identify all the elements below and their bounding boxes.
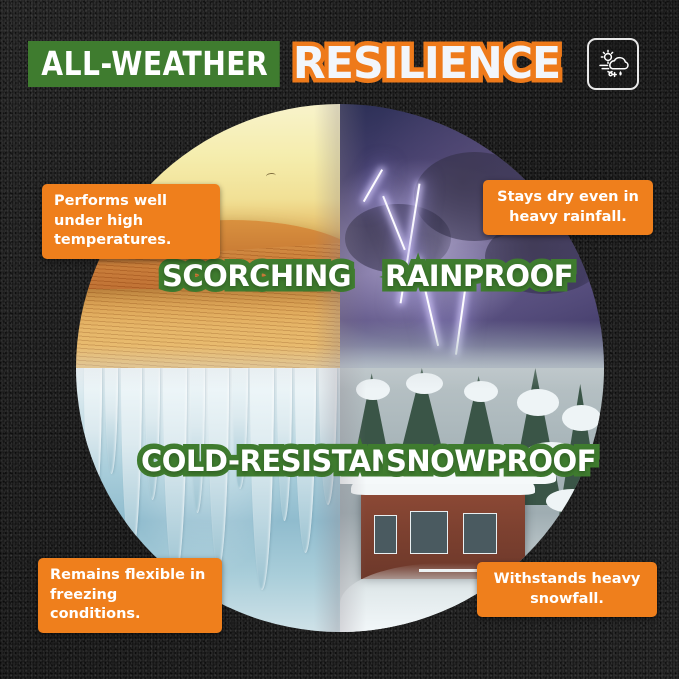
tree-snow-cap	[546, 489, 599, 513]
tree-snow-cap	[356, 379, 390, 400]
header-title-secondary: RESILIENCE	[289, 40, 564, 88]
cabin-window	[374, 515, 397, 555]
header-title-primary: ALL-WEATHER	[28, 41, 280, 87]
callout-scorching: Performs well under high temperatures.	[42, 184, 220, 259]
cabin-window	[463, 513, 498, 554]
tree-snow-cap	[517, 389, 559, 415]
callout-snowproof: Withstands heavy snowfall.	[477, 562, 657, 617]
quadrant-title-scorching: SCORCHING	[162, 262, 351, 291]
callout-rainproof: Stays dry even in heavy rainfall.	[483, 180, 653, 235]
quadrant-image-rainproof	[340, 104, 604, 368]
tree-snow-cap	[406, 373, 443, 394]
storm-horizon	[340, 320, 604, 368]
bird-silhouette-icon	[266, 172, 277, 179]
tree-snow-cap	[562, 405, 602, 431]
quadrant-title-rainproof: RAINPROOF	[385, 262, 573, 291]
quadrant-title-snowproof: SNOWPROOF	[386, 447, 596, 476]
tree-snow-cap	[464, 381, 498, 402]
header-banner: ALL-WEATHER RESILIENCE	[28, 38, 639, 90]
quadrant-title-cold-resistant: COLD-RESISTANT	[141, 447, 414, 476]
cabin-window	[410, 511, 448, 554]
weather-mixed-icon	[587, 38, 639, 90]
callout-cold-resistant: Remains flexible in freezing conditions.	[38, 558, 222, 633]
lightning-bolt-icon	[363, 169, 383, 202]
